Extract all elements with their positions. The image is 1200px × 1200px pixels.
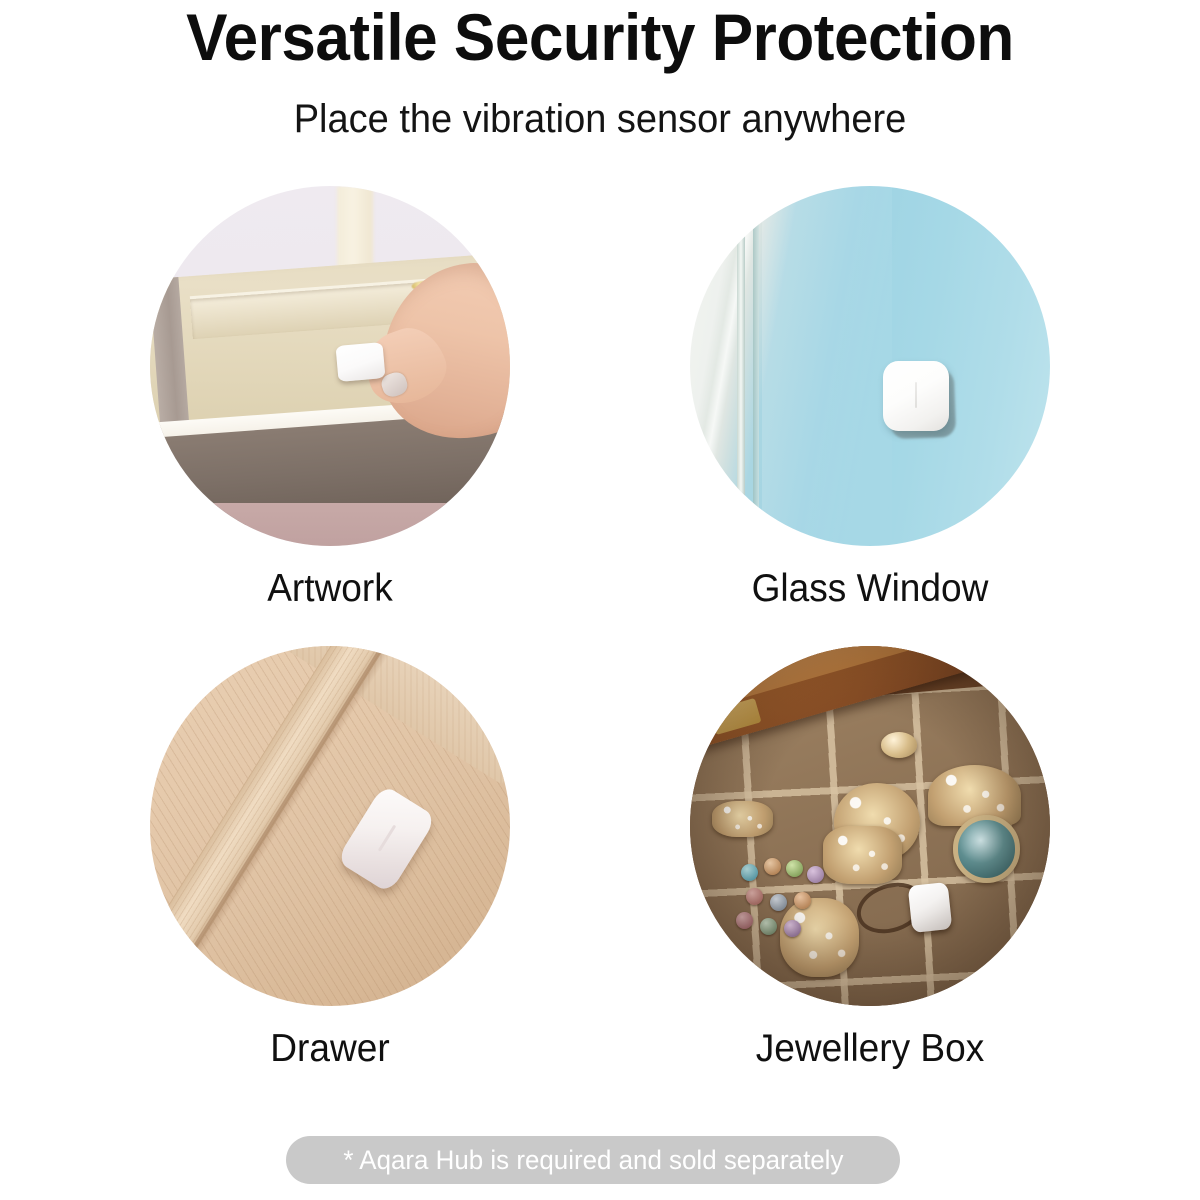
jewellery-box-photo bbox=[690, 646, 1050, 1006]
sensor-seam-line bbox=[915, 382, 917, 409]
placement-card-jewellery-box[interactable]: Jewellery Box bbox=[660, 646, 1080, 1070]
placement-card-drawer[interactable]: Drawer bbox=[120, 646, 540, 1070]
photo-vignette bbox=[690, 646, 1050, 1006]
page-header: Versatile Security Protection Place the … bbox=[0, 0, 1200, 142]
placement-label-drawer: Drawer bbox=[131, 1028, 530, 1070]
page-subtitle: Place the vibration sensor anywhere bbox=[30, 72, 1170, 142]
drawer-photo bbox=[150, 646, 510, 1006]
vibration-sensor-device bbox=[883, 361, 950, 431]
placement-label-artwork: Artwork bbox=[131, 568, 530, 610]
placement-label-glass-window: Glass Window bbox=[671, 568, 1070, 610]
vibration-sensor-device bbox=[336, 342, 386, 382]
sensor-seam-line bbox=[377, 824, 396, 852]
page-title: Versatile Security Protection bbox=[36, 0, 1164, 72]
window-frame-edge bbox=[737, 186, 745, 546]
window-frame-edge-shadow bbox=[753, 186, 759, 546]
floor-surface bbox=[150, 503, 510, 546]
glass-sheen bbox=[762, 186, 892, 546]
footnote-pill: * Aqara Hub is required and sold separat… bbox=[286, 1136, 900, 1184]
placement-card-glass-window[interactable]: Glass Window bbox=[660, 186, 1080, 610]
glass-window-photo bbox=[690, 186, 1050, 546]
placement-label-jewellery-box: Jewellery Box bbox=[671, 1028, 1070, 1070]
footnote-text: * Aqara Hub is required and sold separat… bbox=[343, 1145, 843, 1175]
placement-card-artwork[interactable]: Artwork bbox=[120, 186, 540, 610]
artwork-photo bbox=[150, 186, 510, 546]
